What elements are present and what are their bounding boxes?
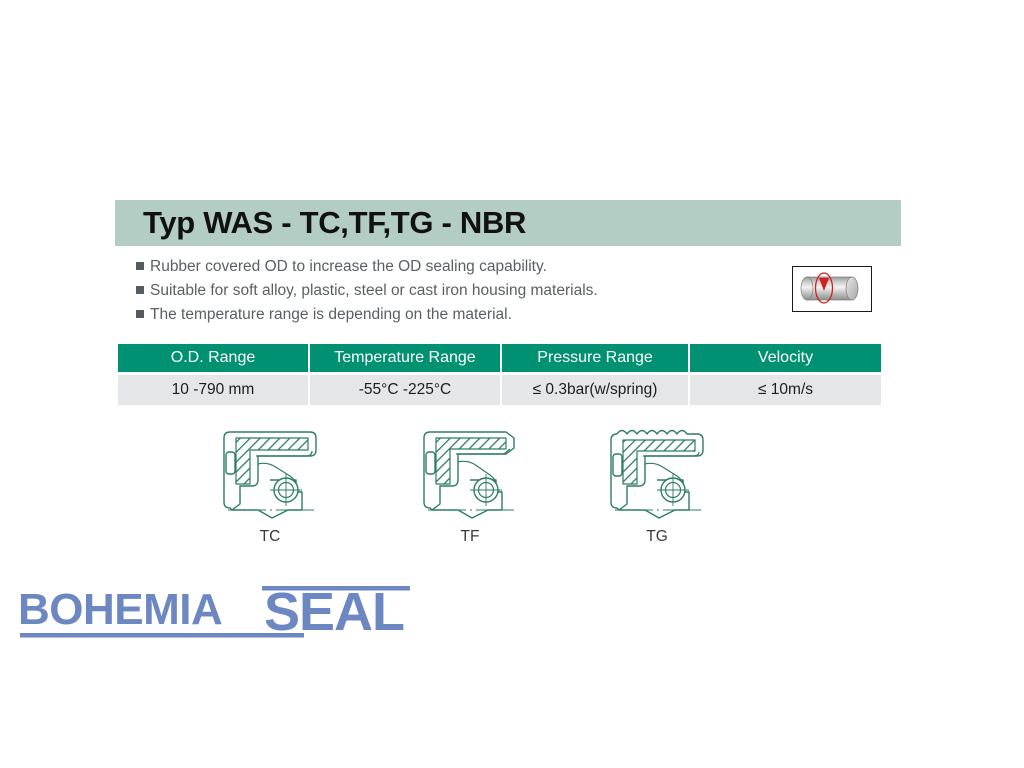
feature-list: Rubber covered OD to increase the OD sea… bbox=[136, 256, 756, 328]
logo-primary-text: BOHEMIA bbox=[18, 585, 222, 634]
tf-drawing bbox=[410, 418, 530, 526]
seal-label-tg: TG bbox=[592, 528, 722, 546]
bullet-square-icon bbox=[136, 262, 144, 270]
tg-drawing bbox=[597, 418, 717, 526]
seal-cross-section-tc: TC bbox=[205, 418, 335, 546]
rotating-shaft-icon bbox=[792, 266, 872, 312]
list-item: Rubber covered OD to increase the OD sea… bbox=[136, 256, 756, 277]
cell-velocity: ≤ 10m/s bbox=[690, 375, 881, 405]
seal-cross-section-tf: TF bbox=[405, 418, 535, 546]
company-logo: BOHEMIA SEAL bbox=[14, 578, 434, 648]
column-header-velocity: Velocity bbox=[690, 344, 881, 372]
list-item: The temperature range is depending on th… bbox=[136, 304, 756, 325]
cell-od-range: 10 -790 mm bbox=[118, 375, 308, 405]
bohemia-seal-logo: BOHEMIA SEAL bbox=[14, 578, 434, 648]
seal-diagram-group: TC TF bbox=[0, 418, 1024, 558]
column-header-od-range: O.D. Range bbox=[118, 344, 308, 372]
table-row: 10 -790 mm -55°C -225°C ≤ 0.3bar(w/sprin… bbox=[118, 375, 881, 405]
cell-temperature-range: -55°C -225°C bbox=[310, 375, 500, 405]
tc-drawing bbox=[210, 418, 330, 526]
list-item-label: Rubber covered OD to increase the OD sea… bbox=[150, 256, 547, 277]
seal-label-tf: TF bbox=[405, 528, 535, 546]
cell-pressure-range: ≤ 0.3bar(w/spring) bbox=[502, 375, 688, 405]
seal-cross-section-tg: TG bbox=[592, 418, 722, 546]
bullet-square-icon bbox=[136, 286, 144, 294]
bullet-square-icon bbox=[136, 310, 144, 318]
logo-underline bbox=[20, 633, 304, 638]
table-header-row: O.D. Range Temperature Range Pressure Ra… bbox=[118, 344, 881, 372]
seal-label-tc: TC bbox=[205, 528, 335, 546]
specification-table: O.D. Range Temperature Range Pressure Ra… bbox=[116, 341, 883, 408]
column-header-temperature-range: Temperature Range bbox=[310, 344, 500, 372]
title-banner: Typ WAS - TC,TF,TG - NBR bbox=[115, 200, 901, 246]
list-item-label: The temperature range is depending on th… bbox=[150, 304, 512, 325]
column-header-pressure-range: Pressure Range bbox=[502, 344, 688, 372]
page-title: Typ WAS - TC,TF,TG - NBR bbox=[115, 205, 526, 241]
list-item: Suitable for soft alloy, plastic, steel … bbox=[136, 280, 756, 301]
list-item-label: Suitable for soft alloy, plastic, steel … bbox=[150, 280, 598, 301]
logo-overline bbox=[262, 586, 410, 591]
